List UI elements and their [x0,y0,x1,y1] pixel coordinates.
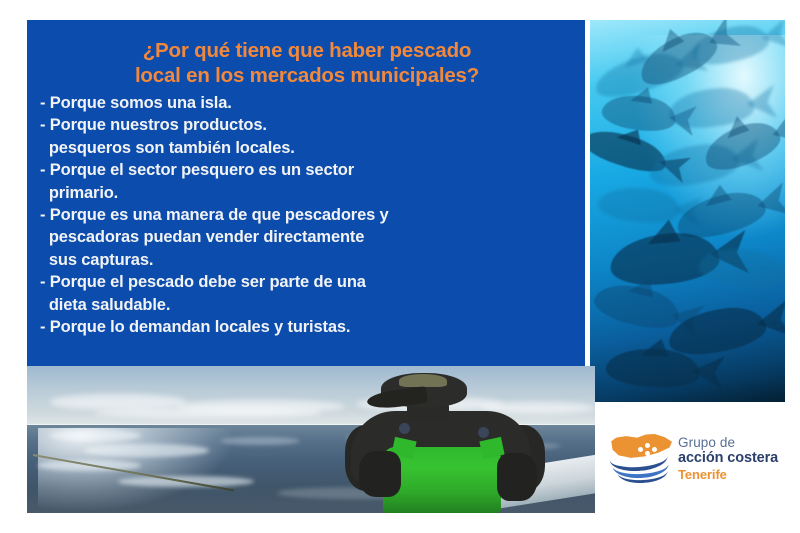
school-of-tuna-underwater-photo [590,20,785,402]
page-title-line-2: local en los mercados municipales? [47,63,567,88]
fisherman-on-boat-photo [27,366,595,513]
sun-reflection [38,428,231,510]
right-arm [497,453,537,501]
list-item: - Porque es una manera de que pescadores… [40,204,580,226]
list-item: pescadoras puedan vender directamente [40,226,580,248]
list-item: - Porque lo demandan locales y turistas. [40,316,580,338]
cloud [50,394,186,409]
left-arm [359,451,401,497]
list-item: - Porque el pescado debe ser parte de un… [40,271,580,293]
list-item: - Porque el sector pesquero es un sector [40,159,580,181]
list-item: - Porque somos una isla. [40,92,580,114]
logo-line-3: Tenerife [678,467,796,482]
fish-shape [665,302,768,360]
list-item: - Porque nuestros productos. [40,114,580,136]
logo-line-2: acción costera [678,450,796,467]
island-dot [645,451,650,456]
fish-shape [591,278,683,336]
water-glint [220,437,300,445]
logo-area: Grupo de acción costera Tenerife [596,408,800,533]
list-item: pesqueros son también locales. [40,137,580,159]
list-item: sus capturas. [40,249,580,271]
wave-line [618,471,669,485]
fisherman-figure [337,373,547,513]
page-title: ¿Por qué tiene que haber pescado local e… [47,38,567,88]
list-item: primario. [40,182,580,204]
island-dot [645,443,650,448]
island-dot [652,447,657,452]
blue-content-panel: ¿Por qué tiene que haber pescado local e… [27,20,585,366]
logo-wordmark: Grupo de acción costera Tenerife [678,435,796,482]
logo-line-1: Grupo de [678,435,796,450]
jacket-logo-right [478,427,489,438]
tenerife-island-waves-icon [610,434,672,480]
jacket-logo-left [399,423,410,434]
page-title-line-1: ¿Por qué tiene que haber pescado [47,38,567,63]
list-item: dieta saludable. [40,294,580,316]
cloud [95,408,322,417]
island-dot [638,447,643,452]
slide-canvas: ¿Por qué tiene que haber pescado local e… [0,0,800,533]
cap-crown [399,374,447,387]
reasons-list: - Porque somos una isla. - Porque nuestr… [40,92,580,338]
